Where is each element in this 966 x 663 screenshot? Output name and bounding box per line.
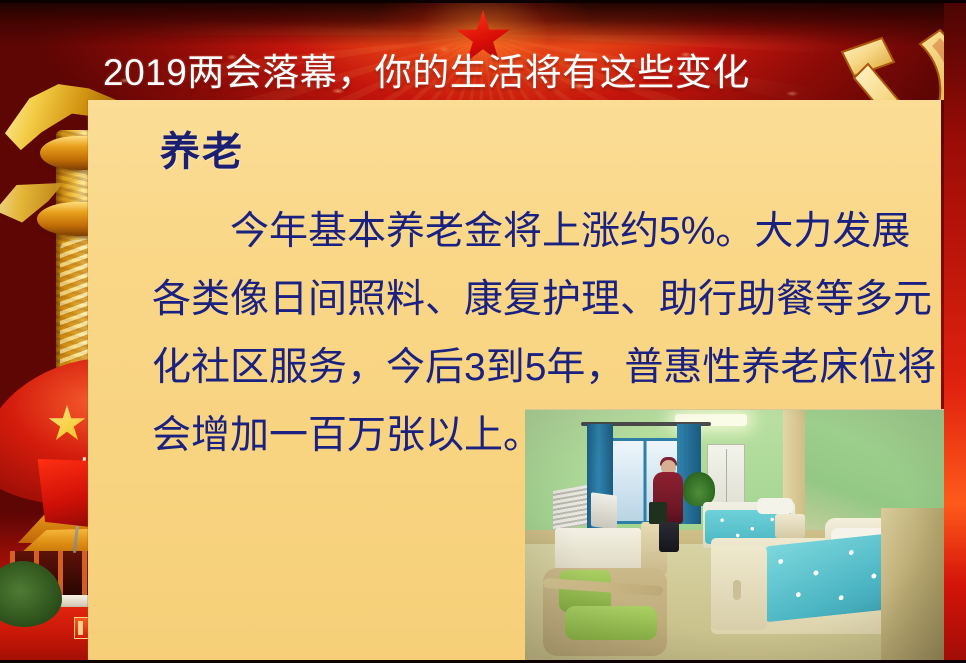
nursing-home-photo bbox=[525, 409, 965, 663]
body-line-3: 化社区服务，今后3到5年，普惠性养老床位将 bbox=[152, 334, 928, 402]
photo-vignette bbox=[525, 410, 965, 663]
body-line-1: 今年基本养老金将上涨约5%。大力发展 bbox=[152, 198, 928, 266]
presentation-slide: 2019两会落幕，你的生活将有这些变化 养老 今年基本养老金将上涨约5%。大力发… bbox=[0, 0, 966, 663]
right-red-strip bbox=[944, 0, 966, 663]
slide-title: 2019两会落幕，你的生活将有这些变化 bbox=[103, 51, 750, 95]
red-flag bbox=[38, 455, 95, 530]
section-heading: 养老 bbox=[160, 126, 244, 178]
body-line-2: 各类像日间照料、康复护理、助行助餐等多元 bbox=[152, 266, 928, 334]
